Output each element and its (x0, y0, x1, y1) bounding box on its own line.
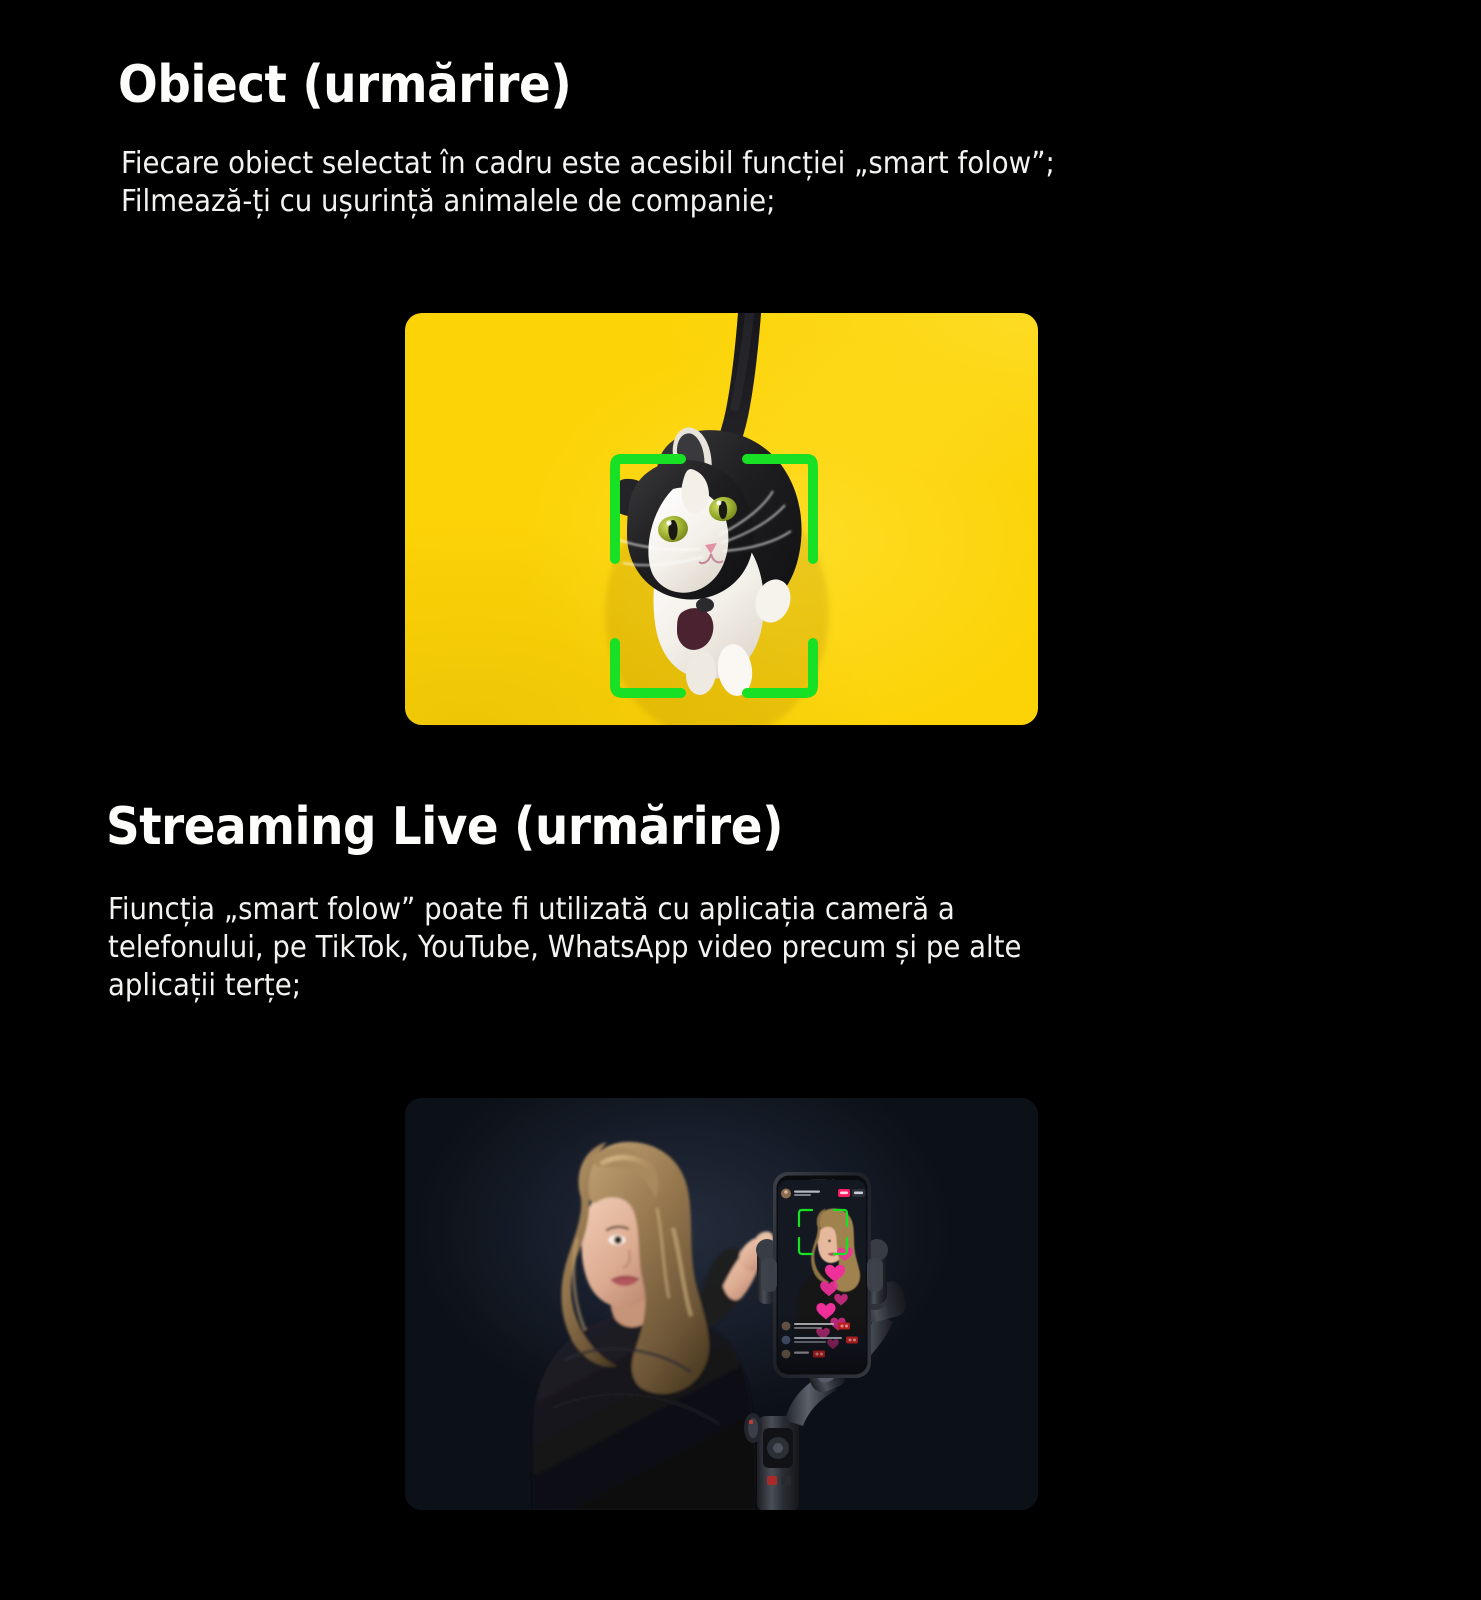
cat-tracking-photo (405, 313, 1038, 725)
page-title-obiect: Obiect (urmărire) (118, 58, 1034, 113)
section-obiect-urmarire: Obiect (urmărire) Fiecare obiect selecta… (118, 58, 1136, 221)
page-title-streaming: Streaming Live (urmărire) (106, 800, 1001, 855)
section-streaming-live: Streaming Live (urmărire) Fiuncția „smar… (106, 800, 1101, 1005)
live-streaming-photo: Charlienoolo ✔ LIVE 1.7K Nice seeing you… (405, 1098, 1038, 1510)
model-and-gimbal-illustration (405, 1098, 1038, 1510)
section-body-obiect: Fiecare obiect selectat în cadru este ac… (121, 145, 1055, 221)
section-body-streaming: Fiuncția „smart folow” poate fi utilizat… (108, 891, 1022, 1005)
tracking-bracket-overlay (405, 313, 1038, 725)
